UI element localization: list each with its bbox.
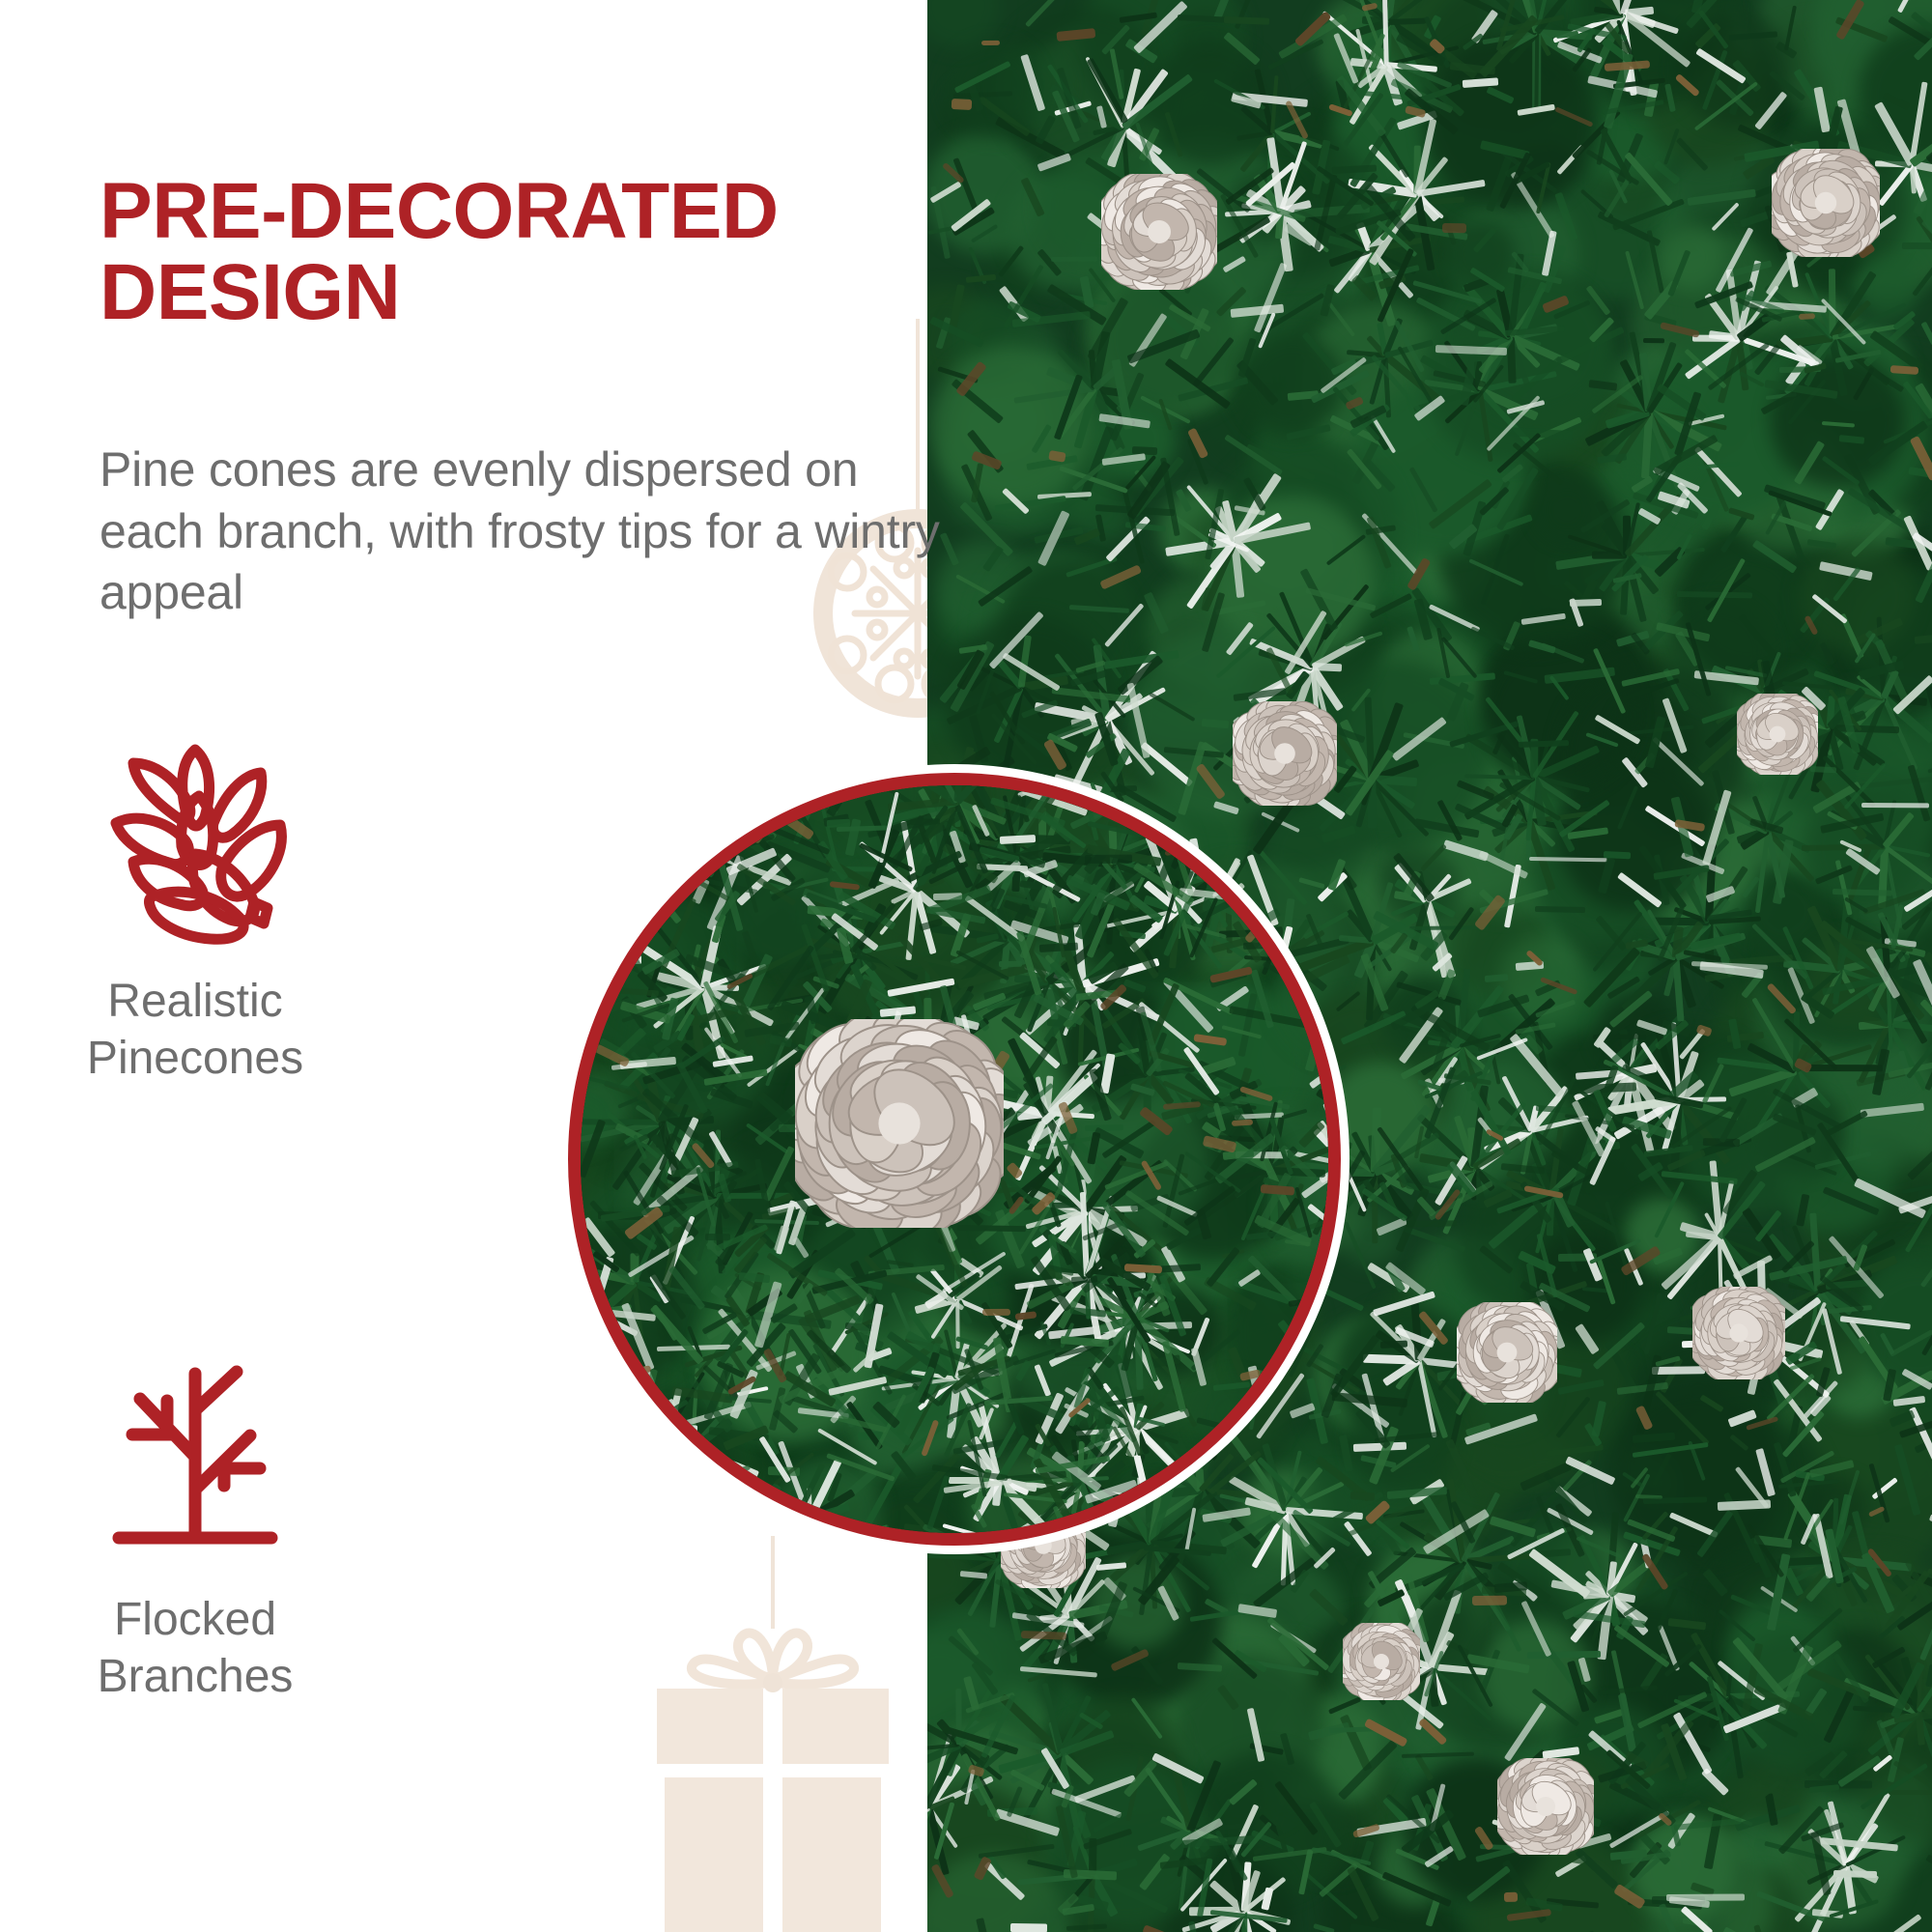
feature-label-line-1: Realistic	[107, 976, 282, 1027]
feature-flocked-branches: Flocked Branches	[0, 1352, 398, 1705]
bare-branch-tree-icon	[0, 1352, 398, 1565]
feature-label-line-2: Pinecones	[87, 1033, 303, 1084]
feature-label-line-2: Branches	[98, 1651, 294, 1702]
feature-realistic-pinecones: Realistic Pinecones	[0, 734, 398, 1087]
pinecone-icon	[0, 734, 398, 947]
headline-line-1: PRE-DECORATED	[99, 167, 779, 255]
pinecone-closeup-inset-photo	[568, 773, 1341, 1546]
feature-label-line-1: Flocked	[114, 1594, 276, 1645]
marketing-infographic: PRE-DECORATED DESIGN Pine cones are even…	[0, 0, 1932, 1932]
headline-line-2: DESIGN	[99, 252, 1065, 333]
feature-label: Flocked Branches	[0, 1592, 398, 1705]
page-title: PRE-DECORATED DESIGN	[99, 171, 1065, 332]
subcopy-text: Pine cones are evenly dispersed on each …	[99, 440, 950, 624]
gift-box-watermark	[638, 1536, 908, 1932]
feature-label: Realistic Pinecones	[0, 974, 398, 1087]
